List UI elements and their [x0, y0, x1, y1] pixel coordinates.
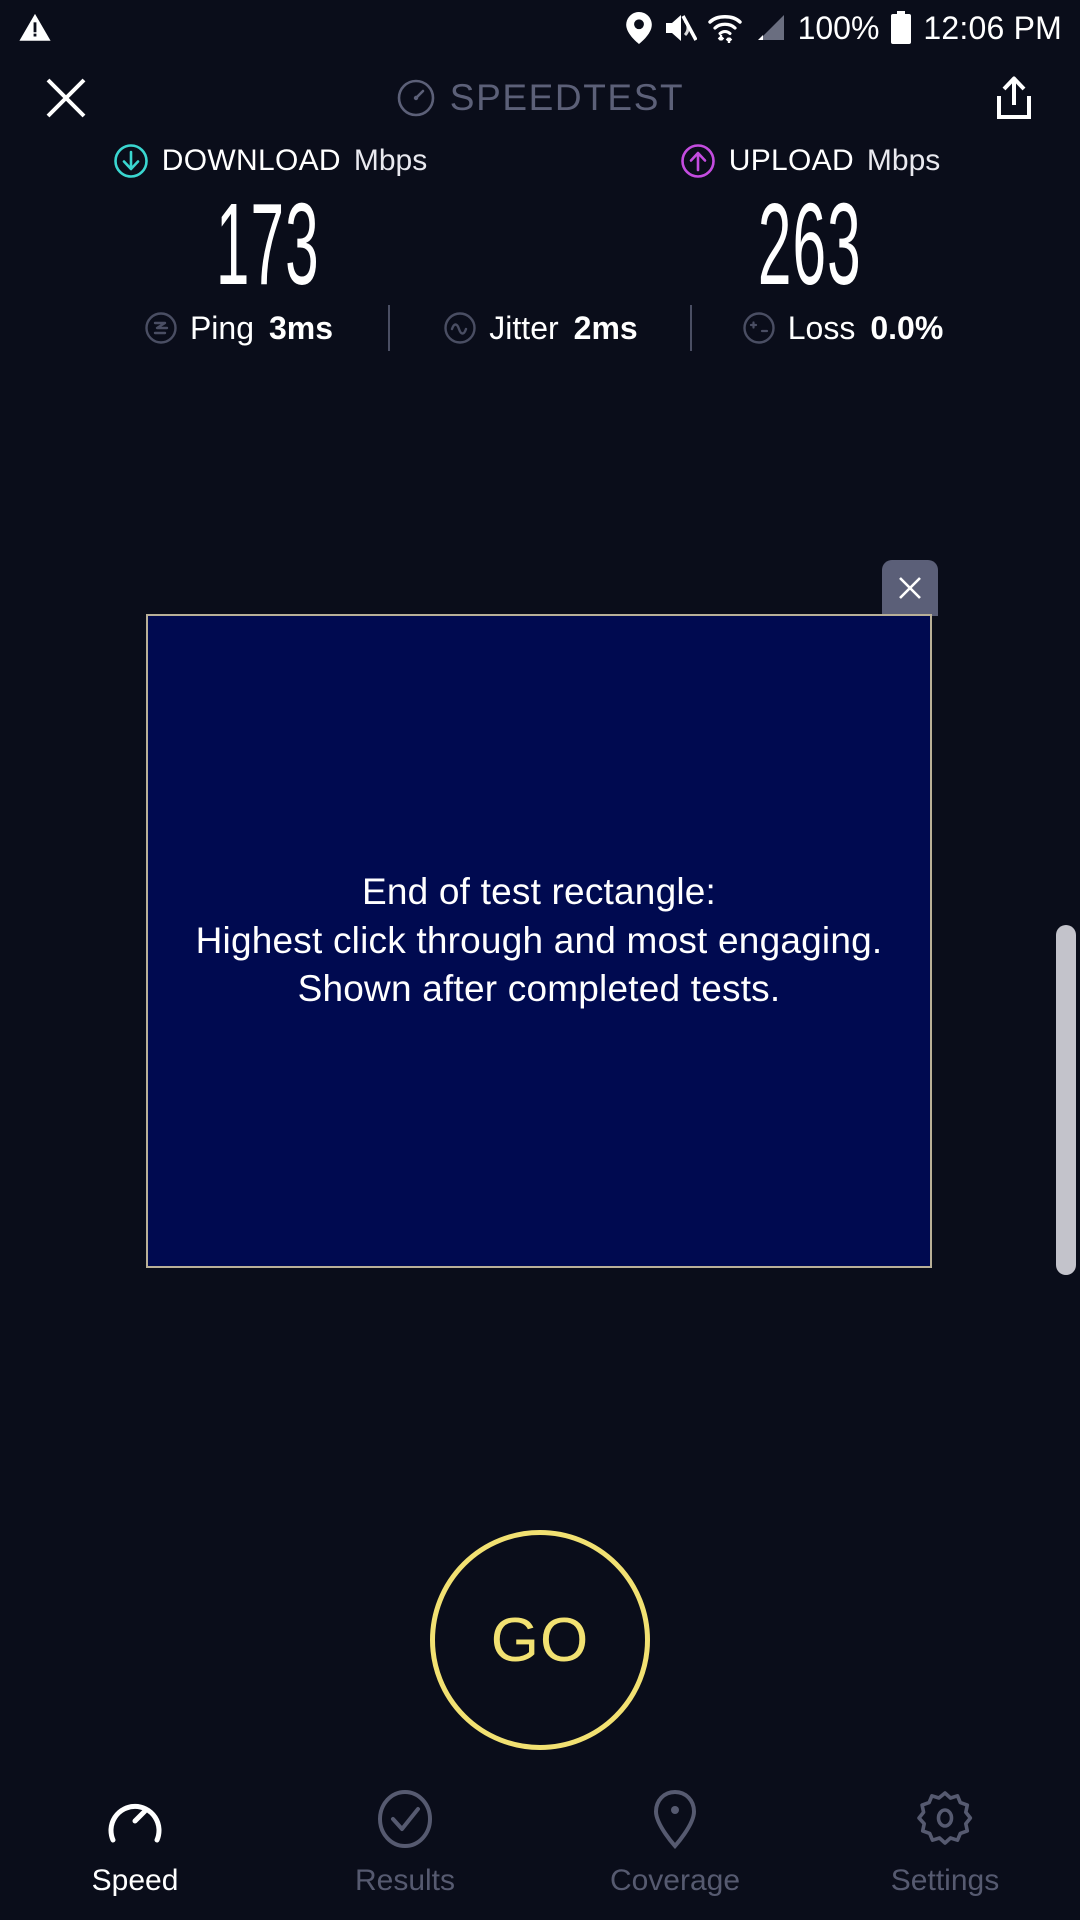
app-title-group: SPEEDTEST: [0, 77, 1080, 119]
go-button-circle: GO: [430, 1530, 650, 1750]
arrow-up-circle-icon: [680, 143, 716, 179]
status-bar: 100% 12:06 PM: [0, 0, 1080, 56]
download-value: 173: [216, 186, 320, 302]
gear-icon: [914, 1788, 976, 1850]
nav-item-speed[interactable]: Speed: [0, 1758, 270, 1920]
nav-label-settings: Settings: [891, 1864, 999, 1898]
nav-item-settings[interactable]: Settings: [810, 1758, 1080, 1920]
go-button-label: GO: [491, 1605, 589, 1676]
status-bar-left: [18, 11, 52, 45]
wifi-icon: [708, 12, 742, 44]
share-button[interactable]: [984, 68, 1044, 128]
location-pin-icon: [644, 1788, 706, 1850]
warning-triangle-icon: [18, 11, 52, 45]
vertical-scrollbar[interactable]: [1056, 925, 1076, 1275]
ad-line-3: Shown after completed tests.: [196, 965, 883, 1014]
nav-item-results[interactable]: Results: [270, 1758, 540, 1920]
close-button[interactable]: [36, 68, 96, 128]
metric-ping: Ping 3ms: [88, 310, 388, 347]
metric-loss: Loss 0.0%: [692, 310, 992, 347]
app-header: SPEEDTEST: [0, 56, 1080, 140]
results-panel: DOWNLOAD Mbps 173 UPLOAD Mbps 263: [0, 140, 1080, 302]
check-circle-icon: [374, 1788, 436, 1850]
download-result: DOWNLOAD Mbps 173: [0, 140, 540, 302]
battery-full-icon: [890, 11, 912, 45]
ping-icon: [143, 310, 179, 346]
ad-close-button[interactable]: [882, 560, 938, 616]
metric-jitter-label: Jitter: [489, 310, 558, 347]
metric-loss-label: Loss: [788, 310, 856, 347]
metric-ping-value: 3ms: [269, 310, 333, 347]
network-metrics-row: Ping 3ms Jitter 2ms Loss 0.0%: [0, 295, 1080, 361]
metric-jitter-value: 2ms: [574, 310, 638, 347]
speedometer-icon: [104, 1788, 166, 1850]
close-icon: [895, 573, 925, 603]
ad-line-2: Highest click through and most engaging.: [196, 917, 883, 966]
nav-label-results: Results: [355, 1864, 455, 1898]
jitter-icon: [442, 310, 478, 346]
upload-unit: Mbps: [867, 144, 940, 178]
loss-icon: [741, 310, 777, 346]
cell-signal-icon: [753, 13, 787, 43]
advertisement-banner[interactable]: End of test rectangle: Highest click thr…: [146, 614, 932, 1268]
upload-label: UPLOAD: [729, 144, 854, 178]
go-button[interactable]: GO: [430, 1530, 650, 1750]
mute-icon: [663, 13, 697, 43]
arrow-down-circle-icon: [113, 143, 149, 179]
status-bar-clock: 12:06 PM: [923, 10, 1062, 47]
upload-label-row: UPLOAD Mbps: [680, 140, 941, 182]
download-label-row: DOWNLOAD Mbps: [113, 140, 427, 182]
nav-label-speed: Speed: [92, 1864, 179, 1898]
download-label: DOWNLOAD: [162, 144, 341, 178]
bottom-navigation: Speed Results Coverage Settings: [0, 1758, 1080, 1920]
battery-percent-label: 100%: [798, 10, 880, 47]
nav-label-coverage: Coverage: [610, 1864, 740, 1898]
metric-jitter: Jitter 2ms: [390, 310, 690, 347]
speed-results-row: DOWNLOAD Mbps 173 UPLOAD Mbps 263: [0, 140, 1080, 302]
upload-result: UPLOAD Mbps 263: [540, 140, 1080, 302]
speedometer-icon: [396, 78, 436, 118]
metric-ping-label: Ping: [190, 310, 254, 347]
metric-loss-value: 0.0%: [870, 310, 943, 347]
ad-line-1: End of test rectangle:: [196, 868, 883, 917]
download-unit: Mbps: [354, 144, 427, 178]
close-icon: [42, 74, 90, 122]
nav-item-coverage[interactable]: Coverage: [540, 1758, 810, 1920]
upload-value: 263: [758, 186, 862, 302]
share-icon: [992, 75, 1036, 121]
location-pin-icon: [626, 12, 652, 44]
status-bar-right: 100% 12:06 PM: [626, 10, 1062, 47]
ad-text: End of test rectangle: Highest click thr…: [196, 868, 883, 1014]
page-title: SPEEDTEST: [450, 77, 684, 119]
